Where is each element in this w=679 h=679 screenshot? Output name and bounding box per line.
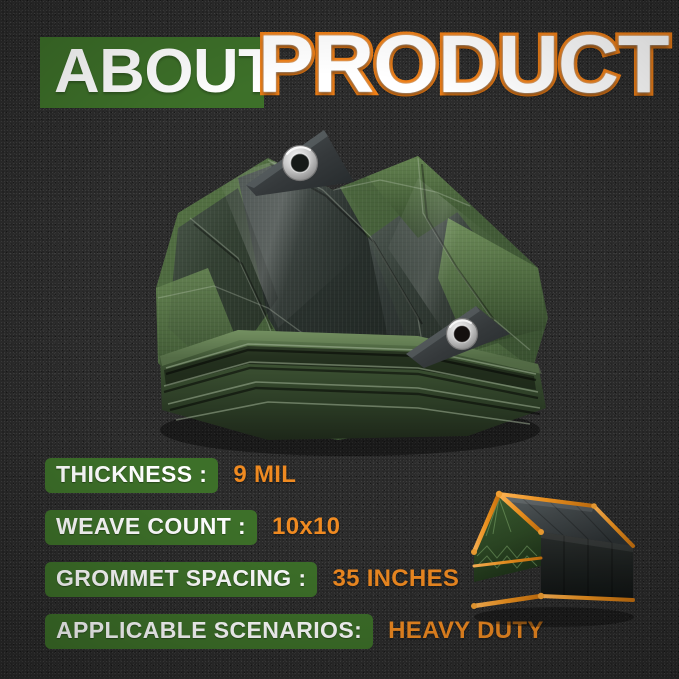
- spec-label-weave-count: WEAVE COUNT :: [45, 510, 257, 545]
- spec-value-weave-count: 10x10: [272, 513, 340, 541]
- canopy-svg: [466, 474, 641, 634]
- header: ABOUT PRODUCT: [0, 0, 679, 125]
- header-word-product: PRODUCT: [258, 22, 668, 108]
- product-image-tarp: [118, 118, 568, 458]
- spec-label-thickness: THICKNESS :: [45, 458, 218, 493]
- spec-value-thickness: 9 MIL: [233, 461, 296, 489]
- infographic-page: ABOUT PRODUCT: [0, 0, 679, 679]
- header-word-about: ABOUT: [54, 40, 276, 104]
- spec-label-grommet-spacing: GROMMET SPACING :: [45, 562, 317, 597]
- spec-value-grommet-spacing: 35 INCHES: [332, 565, 459, 593]
- tarp-illustration: [118, 118, 568, 458]
- canopy-shelter-illustration: [466, 474, 641, 634]
- spec-label-applicable-scenarios: APPLICABLE SCENARIOS:: [45, 614, 373, 649]
